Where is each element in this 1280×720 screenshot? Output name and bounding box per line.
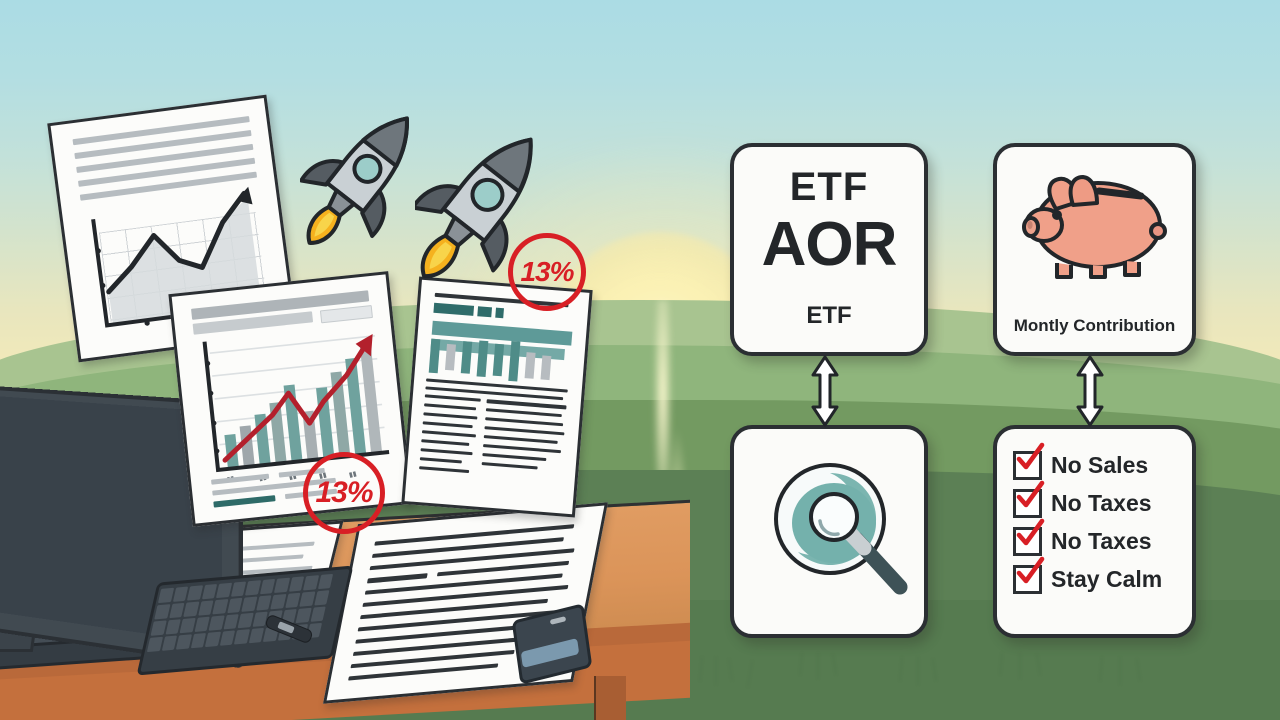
magnifying-glass-icon: [752, 447, 912, 615]
list-item[interactable]: No Sales: [1013, 449, 1184, 481]
document-text-report: [401, 277, 592, 518]
checklist-label: No Taxes: [1051, 528, 1152, 555]
rocket-left: [300, 92, 430, 252]
arrow-piggy-to-checklist: [1075, 355, 1105, 427]
checkmark-icon: [1015, 480, 1045, 510]
card-etf-line3: ETF: [734, 302, 924, 330]
card-etf-line1: ETF: [734, 165, 924, 210]
list-item[interactable]: Stay Calm: [1013, 563, 1184, 595]
checkbox-icon[interactable]: [1013, 489, 1042, 518]
arrow-etf-to-research: [810, 355, 840, 427]
card-rules-checklist[interactable]: No Sales No Taxes No Taxes: [993, 425, 1196, 638]
checkmark-icon: [1015, 556, 1045, 586]
checkmark-icon: [1015, 442, 1045, 472]
checklist: No Sales No Taxes No Taxes: [1013, 449, 1184, 601]
card-etf-aor[interactable]: ETF AOR ETF: [730, 143, 928, 356]
checklist-label: Stay Calm: [1051, 566, 1162, 593]
stamp-13-percent-chart: 13%: [303, 452, 385, 534]
list-item[interactable]: No Taxes: [1013, 525, 1184, 557]
desk-leg: [594, 676, 626, 720]
stamp-13-percent-rockets: 13%: [508, 233, 586, 311]
illustration-scene: ▮▮ ▮▮ ▮▮ ▮▮ ▮▮: [0, 0, 1280, 720]
list-item[interactable]: No Taxes: [1013, 487, 1184, 519]
checklist-label: No Sales: [1051, 452, 1148, 479]
checkbox-icon[interactable]: [1013, 565, 1042, 594]
card-research[interactable]: [730, 425, 928, 638]
checkbox-icon[interactable]: [1013, 451, 1042, 480]
checklist-label: No Taxes: [1051, 490, 1152, 517]
card-piggy-label: Montly Contribution: [997, 316, 1192, 336]
card-etf-line2: AOR: [734, 209, 924, 280]
checkbox-icon[interactable]: [1013, 527, 1042, 556]
checkmark-icon: [1015, 518, 1045, 548]
card-monthly-contribution[interactable]: Montly Contribution: [993, 143, 1196, 356]
piggy-bank-icon: [1015, 163, 1175, 283]
